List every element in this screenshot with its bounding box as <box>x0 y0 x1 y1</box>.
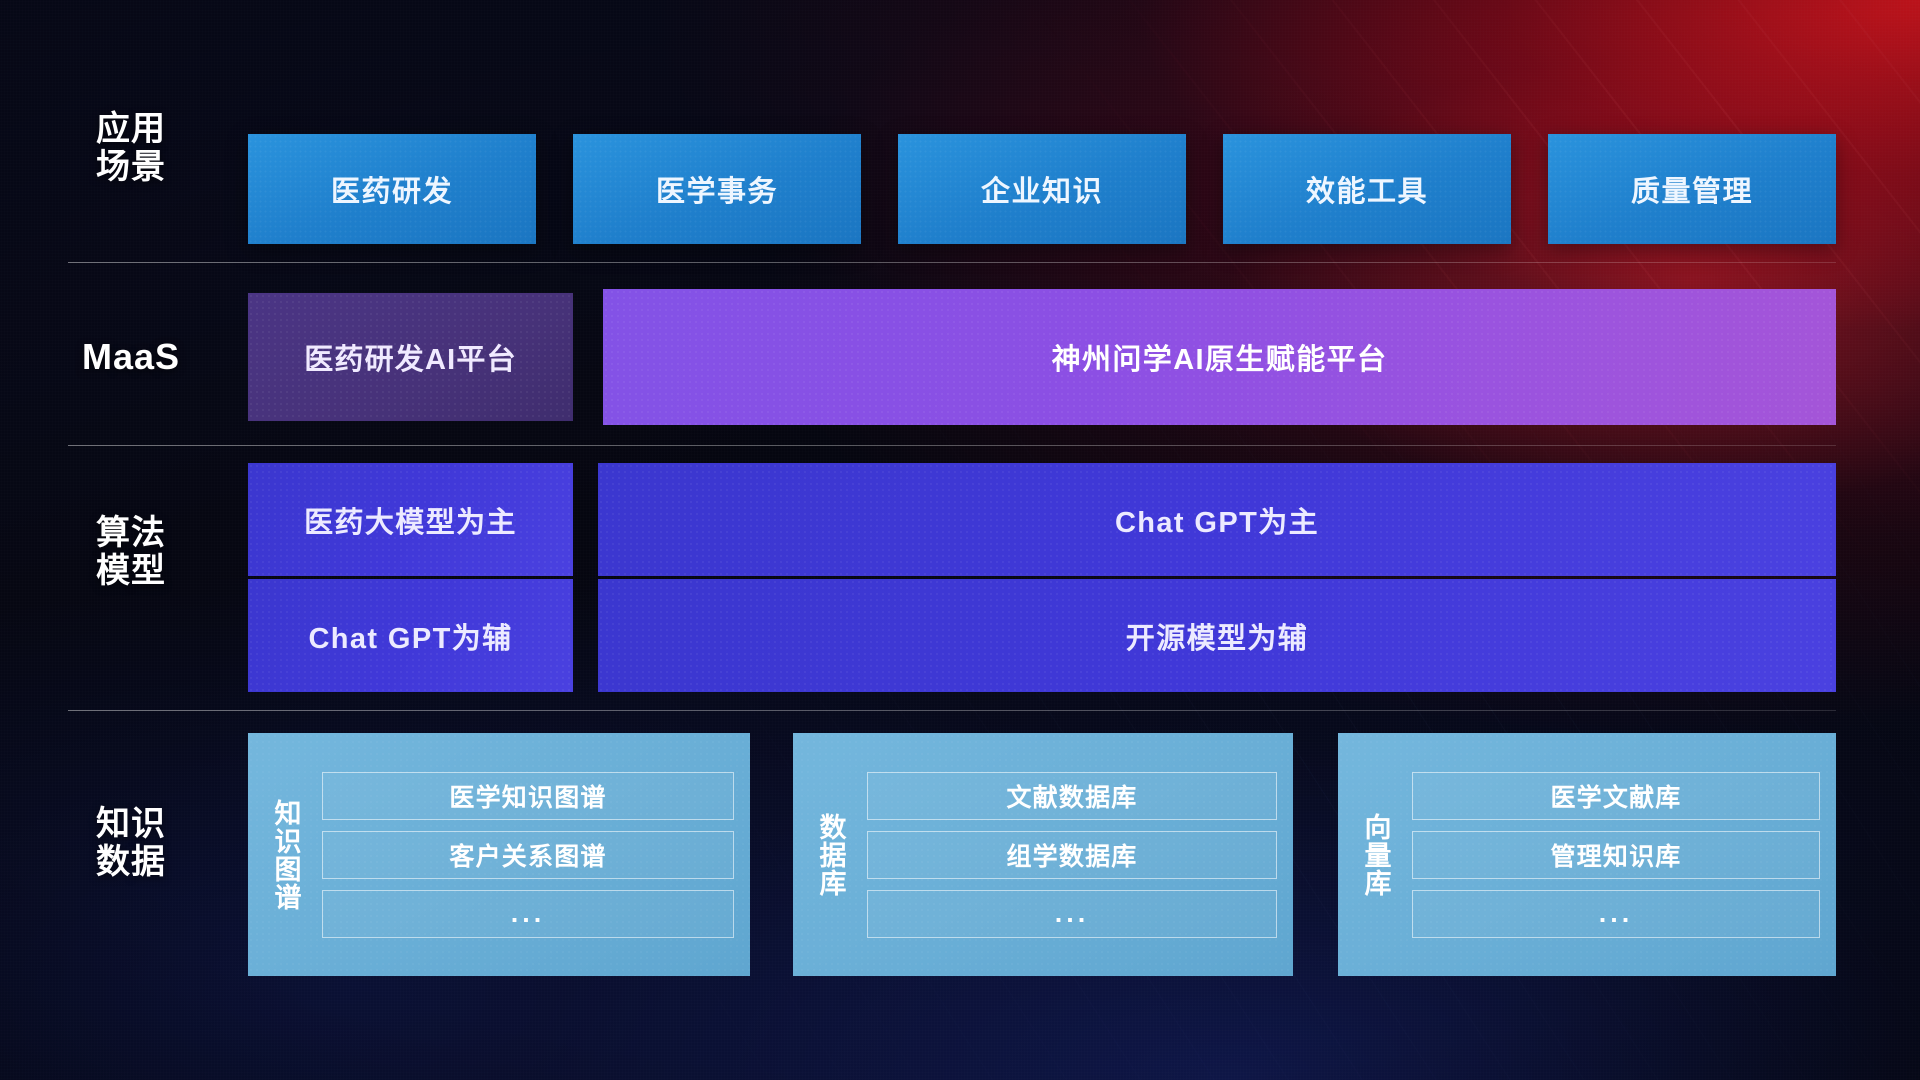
algo-box-label: Chat GPT为主 <box>1115 499 1319 541</box>
algo-box-label: Chat GPT为辅 <box>308 615 512 657</box>
divider-after-application-scenario <box>68 262 1836 263</box>
app-box-label: 企业知识 <box>981 168 1103 210</box>
architecture-diagram: 应用 场景 医药研发 医学事务 企业知识 效能工具 质量管理 MaaS 医药研发… <box>0 0 1920 1080</box>
algo-box-chatgpt-secondary[interactable]: Chat GPT为辅 <box>248 579 573 692</box>
knowledge-item[interactable]: 医学文献库 <box>1412 772 1820 820</box>
app-box-enterprise-knowledge[interactable]: 企业知识 <box>898 134 1186 244</box>
app-box-label: 医学事务 <box>656 168 778 210</box>
knowledge-item[interactable]: 客户关系图谱 <box>322 831 734 879</box>
knowledge-card-title: 知识图谱 <box>248 747 322 962</box>
row-label-application-scenario: 应用 场景 <box>68 110 194 186</box>
algo-box-medicine-large-model[interactable]: 医药大模型为主 <box>248 463 573 576</box>
maas-right-label: 神州问学AI原生赋能平台 <box>1052 336 1388 378</box>
knowledge-card-vector-store[interactable]: 向量库 医学文献库 管理知识库 ... <box>1338 733 1836 976</box>
knowledge-item[interactable]: 医学知识图谱 <box>322 772 734 820</box>
knowledge-item[interactable]: 组学数据库 <box>867 831 1277 879</box>
algo-box-label: 开源模型为辅 <box>1126 615 1308 657</box>
knowledge-card-items: 文献数据库 组学数据库 ... <box>867 747 1277 962</box>
knowledge-card-items: 医学文献库 管理知识库 ... <box>1412 747 1820 962</box>
app-box-label: 质量管理 <box>1631 168 1753 210</box>
app-box-quality-management[interactable]: 质量管理 <box>1548 134 1836 244</box>
knowledge-item-more[interactable]: ... <box>322 890 734 938</box>
knowledge-item-more[interactable]: ... <box>867 890 1277 938</box>
divider-after-algorithm-model <box>68 710 1836 711</box>
row-label-algorithm-model: 算法 模型 <box>68 514 194 590</box>
algo-box-label: 医药大模型为主 <box>304 499 517 541</box>
app-box-medical-affairs[interactable]: 医学事务 <box>573 134 861 244</box>
app-box-label: 医药研发 <box>331 168 453 210</box>
algo-box-chatgpt-primary[interactable]: Chat GPT为主 <box>598 463 1836 576</box>
knowledge-item-more[interactable]: ... <box>1412 890 1820 938</box>
algo-box-opensource-secondary[interactable]: 开源模型为辅 <box>598 579 1836 692</box>
knowledge-item[interactable]: 管理知识库 <box>1412 831 1820 879</box>
maas-platform-shenzhou-wenxue[interactable]: 神州问学AI原生赋能平台 <box>603 289 1836 425</box>
knowledge-card-items: 医学知识图谱 客户关系图谱 ... <box>322 747 734 962</box>
knowledge-item[interactable]: 文献数据库 <box>867 772 1277 820</box>
app-box-efficiency-tools[interactable]: 效能工具 <box>1223 134 1511 244</box>
app-box-medicine-rd[interactable]: 医药研发 <box>248 134 536 244</box>
knowledge-card-title: 数据库 <box>793 747 867 962</box>
knowledge-card-graph[interactable]: 知识图谱 医学知识图谱 客户关系图谱 ... <box>248 733 750 976</box>
divider-after-maas <box>68 445 1836 446</box>
knowledge-card-title: 向量库 <box>1338 747 1412 962</box>
maas-left-label: 医药研发AI平台 <box>304 336 517 378</box>
row-label-maas: MaaS <box>68 337 194 377</box>
maas-platform-medicine-rd[interactable]: 医药研发AI平台 <box>248 293 573 421</box>
knowledge-card-database[interactable]: 数据库 文献数据库 组学数据库 ... <box>793 733 1293 976</box>
app-box-label: 效能工具 <box>1306 168 1428 210</box>
row-label-knowledge-data: 知识 数据 <box>68 805 194 881</box>
